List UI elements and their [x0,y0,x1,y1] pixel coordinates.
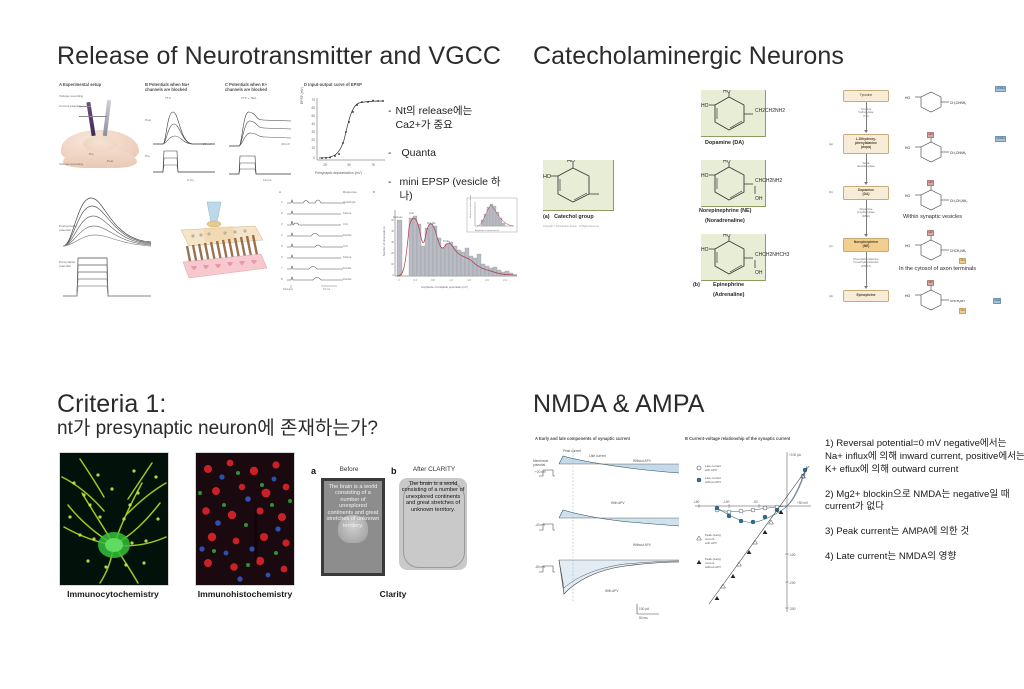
panel-b-pre-label: Pre [145,154,150,158]
bullet-text: Quanta [402,146,509,160]
panel-c-header: C Potentials when K+ channels are blocke… [225,82,287,92]
post-label: Post [107,159,113,163]
panel-b-post-label: Post [145,118,151,122]
lower-panel-a-letter: A [279,190,281,194]
svg-text:With APV: With APV [605,589,619,593]
note-item: 4) Late current는 NMDA의 영향 [825,551,1024,564]
svg-text:Without APV: Without APV [633,543,652,547]
panel-b-scale-y: 20 mV [203,142,212,146]
svg-text:40: 40 [311,122,315,126]
norepinephrine-oh: OH [755,196,763,203]
catechol-label: (a) Catechol group [543,214,594,221]
bullet-text: Nt의 release에는 Ca2+가 중요 [396,104,509,132]
svg-text:6: 6 [281,255,283,259]
tag-ho-dopa: HO [927,132,934,138]
epinephrine-label2: (Adrenaline) [713,292,744,299]
panel-d-xlabel: Presynaptic depolarization (mV) [315,171,362,175]
svg-text:2.4: 2.4 [503,279,507,282]
lower-left-traces-upper [61,190,153,250]
pre-label: Pre [89,152,94,156]
svg-text:-80 mV: -80 mV [535,565,546,569]
panel-d-plot: 706050 403020 100 255075 [305,96,387,170]
svg-text:Failure: Failure [343,255,352,259]
clarity-panel-a-letter: a [311,466,316,476]
svg-text:HO: HO [701,247,709,253]
svg-text:25: 25 [323,163,327,167]
clarity-after-header: After CLARITY [399,466,469,473]
lower-left-postsynaptic-label: Postsynapticpotential [59,224,77,232]
svg-text:2.0: 2.0 [485,279,489,282]
svg-text:4: 4 [281,233,283,237]
enzyme-dopa-decarboxylase: Dopa decarboxylase [837,162,895,169]
epinephrine-tag: (b) [693,282,700,289]
svg-text:With APV: With APV [611,501,625,505]
catecholamine-synthesis-pathway: (a) (b) (c) (d) Tyrosine L-Dihydroxy- ph… [829,86,1013,316]
svg-text:75: 75 [371,163,375,167]
panel-b-pre-traces [153,146,215,176]
svg-text:1: 1 [281,200,283,204]
tag-ho-dopamine: HO [927,180,934,186]
bullet-item: - Quanta [388,146,508,160]
panel-c-scale-y: 30 mV [281,142,290,146]
tag-ch3-epinephrine: CH3 [993,298,1001,304]
voltage-recording-label-2: Voltage recording [59,162,85,166]
svg-text:7: 7 [281,266,283,270]
nmda-notes-list: 1) Reversal potential=0 mV negative에서는 N… [825,438,1024,576]
slide-release-vgcc: Release of Neurotransmitter and VGCC A E… [57,42,527,312]
clarity-after-panel: b After CLARITY The brain is a world con… [391,462,471,574]
svg-text:CH₂CHNH₂: CH₂CHNH₂ [950,151,967,155]
svg-text:50: 50 [347,163,351,167]
immunocytochemistry-caption: Immunocytochemistry [49,589,177,599]
svg-text:HO: HO [567,160,575,164]
svg-text:0.8: 0.8 [431,279,435,282]
svg-text:Double: Double [427,221,436,225]
svg-text:30: 30 [311,130,315,134]
ttx-drug-label: TTX [165,96,171,100]
svg-text:50: 50 [311,114,315,118]
svg-text:HO: HO [723,90,731,95]
slide1-bullets: - Nt의 release에는 Ca2+가 중요 - Quanta - mini… [388,104,508,217]
svg-text:Unit: Unit [343,222,348,226]
svg-text:HO: HO [905,96,910,100]
slide2-title: Catecholaminergic Neurons [533,42,844,70]
svg-text:CHCH₂NH₂: CHCH₂NH₂ [950,249,967,253]
svg-text:30: 30 [391,241,394,244]
note-item: 3) Peak current는 AMPA에 의한 것 [825,526,1024,539]
immunocytochemistry-image [59,452,169,586]
copyright-notice: Copyright © 2013 Wolters Kluwer · All Ri… [543,226,599,228]
svg-text:40: 40 [391,230,394,233]
panel-a-header: A Experimental setup [59,82,125,87]
immunohistochemistry-caption: Immunohistochemistry [181,589,309,599]
svg-text:0: 0 [313,156,315,160]
svg-text:100 pA: 100 pA [639,607,650,611]
clarity-panel-b-letter: b [391,466,397,476]
clarity-before-header: Before [317,466,381,473]
svg-text:70: 70 [311,98,315,102]
epinephrine-sidechain: CHCH2NHCH3 [755,252,789,259]
bullet-dash: - [388,175,392,203]
slide-catecholaminergic: Catecholaminergic Neurons HO HO (a) Cate… [533,42,1013,317]
svg-text:HO: HO [905,146,910,150]
slide-nmda-ampa: NMDA & AMPA A Early and late components … [533,390,1023,635]
bullet-item: - Nt의 release에는 Ca2+가 중요 [388,104,508,132]
enzyme-dopamine-beta-hydroxylase: Dopamine β-hydroxylase (DBH) [837,208,895,218]
synapse-muscle-illustration [177,200,273,286]
svg-text:with APV: with APV [705,468,717,472]
enzyme-pnmt: Phenylethanolamine N-methyltransferase (… [831,258,901,268]
svg-text:Without APV: Without APV [633,459,652,463]
svg-text:Quadruple: Quadruple [343,200,356,204]
svg-text:HO: HO [543,174,551,180]
dopamine-label: Dopamine (DA) [705,140,744,147]
pathway-step-c: (c) [829,244,833,248]
svg-text:HO: HO [723,234,731,239]
svg-text:Amplitude of spontaneous: Amplitude of spontaneous [475,229,499,232]
panel-b-post-traces [153,106,215,146]
svg-text:HO: HO [701,103,709,109]
svg-text:HO: HO [723,160,731,165]
bullet-text: mini EPSP (vesicle 하나) [400,175,509,203]
catechol-structure-box: HO HO [543,160,614,211]
panel-b-header: B Potentials when Na+ channels are block… [145,82,207,92]
tag-oh-epinephrine: OH [959,308,966,314]
svg-text:0: 0 [393,274,395,277]
pathway-step-a: (a) [829,142,833,146]
svg-text:Late current: Late current [589,454,606,458]
svg-text:-300: -300 [789,607,796,611]
svg-text:Double: Double [343,266,352,270]
tag-oh-norepinephrine: OH [959,258,966,264]
panel-d-ylabel: EPSP (mV) [300,44,304,104]
svg-text:+50 mV: +50 mV [797,501,809,505]
dopamine-sidechain: CH2CH2NH2 [755,108,785,115]
svg-text:HO: HO [701,173,709,179]
slide4-title: NMDA & AMPA [533,390,705,418]
norepinephrine-sidechain: CHCH2NH2 [755,178,782,185]
quantal-response-traces: 1234 5678 QuadrupleFailureUnit DoubleUni… [281,196,367,290]
bullet-dash: - [388,104,392,132]
epinephrine-label: Epinephrine [713,282,744,289]
tag-ho-epinephrine: HO [927,280,934,286]
nmda-panel-a-plot: Membranepotential +20 mV-40 mV-80 mV Pea… [533,442,683,622]
nmda-panel-a-header: A Early and late components of synaptic … [535,436,630,441]
slide1-title: Release of Neurotransmitter and VGCC [57,42,501,70]
svg-text:0: 0 [398,279,400,282]
svg-text:potential: potential [533,463,545,467]
pathway-step-d: (d) [829,294,833,298]
svg-text:8: 8 [281,277,283,281]
bullet-item: - mini EPSP (vesicle 하나) [388,175,508,203]
svg-text:Amplitude of endplate potentia: Amplitude of endplate potentials (mV) [421,285,468,289]
tag-cooh-tyrosine: COOH [995,86,1006,92]
immunohistochemistry-image [195,452,295,586]
svg-text:Peak current: Peak current [563,449,581,453]
svg-text:CHCH₂NH: CHCH₂NH [950,299,965,303]
panel-c-scale-x: 10 ms [263,178,271,182]
svg-text:Number of observations: Number of observations [382,226,386,256]
svg-text:Triple: Triple [443,239,450,243]
svg-text:HO: HO [905,194,910,198]
norepinephrine-label2: (Noradrenaline) [705,218,745,225]
svg-text:-150: -150 [693,500,700,504]
svg-text:20: 20 [311,138,315,142]
svg-text:+100 pA: +100 pA [789,453,802,457]
svg-text:Unit: Unit [343,244,348,248]
norepinephrine-label: Norepinephrine (NE) [699,208,751,215]
pathway-compound-tyrosine: Tyrosine [843,90,889,102]
svg-text:-100: -100 [723,500,730,504]
svg-text:10 ms: 10 ms [323,287,331,290]
svg-text:Failure: Failure [343,211,352,215]
svg-text:2: 2 [281,211,283,215]
svg-text:-200: -200 [789,581,796,585]
epinephrine-oh: OH [755,270,763,277]
svg-text:CH₂CH₂NH₂: CH₂CH₂NH₂ [950,199,968,203]
svg-text:Double: Double [343,233,352,237]
lower-left-presynaptic-label: Presynapticpotential [59,260,75,268]
svg-text:5: 5 [281,244,283,248]
tag-cooh-dopa: COOH [995,136,1006,142]
pathway-compound-norepinephrine: Norepinephrine (NE) [843,238,889,252]
svg-text:-40 mV: -40 mV [535,523,546,527]
panel-d-header: D Input-output curve of EPSP [304,82,384,87]
bullet-dash: - [388,146,392,160]
panel-c-pre-traces [229,152,291,178]
svg-text:50: 50 [391,219,394,222]
lower-panel-a-header: Response [343,190,357,194]
pathway-compound-dopamine: Dopamine (DA) [843,186,889,200]
svg-text:1.6: 1.6 [467,279,471,282]
svg-text:-100: -100 [789,553,796,557]
note-item: 1) Reversal potential=0 mV negative에서는 N… [825,438,1024,477]
svg-text:50 ms: 50 ms [639,616,648,620]
experimental-setup-illustration: Pre Post [61,96,139,168]
svg-text:HO: HO [905,244,910,248]
svg-text:20: 20 [391,252,394,255]
nmda-panel-b-header: B Current-voltage relationship of the sy… [685,436,790,441]
slide3-subtitle: nt가 presynaptic neuron에 존재하는가? [57,417,378,441]
svg-text:0.4: 0.4 [413,279,417,282]
pathway-compound-epinephrine: Epinephrine [843,290,889,302]
svg-text:10: 10 [391,263,394,266]
pathway-compound-dopa: L-Dihydroxy- phenylalanine (dopa) [843,134,889,154]
clarity-before-panel: a Before The brain is a world consisting… [311,462,383,574]
nmda-panel-b-plot: +100 pA+50 mV -150-100-50 -100-200-300 L… [683,444,823,619]
panel-b-scale-x: 2 ms [187,178,194,182]
svg-text:without APV: without APV [705,565,721,569]
svg-text:10: 10 [311,146,315,150]
slide3-title: Criteria 1: [57,390,166,418]
clarity-before-text: The brain is a world consisting of a num… [324,481,382,573]
svg-text:1.2: 1.2 [449,279,453,282]
clarity-after-text: The brain is a world consisting of a num… [399,478,467,570]
svg-text:Stimulus: Stimulus [283,287,294,290]
svg-text:without APV: without APV [705,480,721,484]
svg-text:CH₂CHNH₂: CH₂CHNH₂ [950,101,967,105]
enzyme-tyrosine-hydroxylase: Tyrosine hydroxylase (TH) [837,108,895,118]
svg-text:+20 mV: +20 mV [535,470,547,474]
clarity-caption: Clarity [329,589,457,599]
svg-text:with APV: with APV [705,541,717,545]
svg-text:60: 60 [311,106,315,110]
slide-criteria-1: Criteria 1: nt가 presynaptic neuron에 존재하는… [57,390,527,630]
svg-text:Double: Double [343,277,352,281]
pathway-step-b: (b) [829,190,833,194]
tag-ho-norepinephrine: HO [927,230,934,236]
note-item: 2) Mg2+ blockin으로 NMDA는 negative일 때 curr… [825,489,1024,515]
svg-text:-50: -50 [753,500,758,504]
svg-text:3: 3 [281,222,283,226]
svg-text:HO: HO [905,294,910,298]
ttx-tea-drug-label: TTX + TEA [241,96,256,100]
pathway-molecule-structures: HO CH₂CHNH₂ HO CH₂CHNH₂ HO CH₂CH₂NH₂ HO [905,86,1013,316]
